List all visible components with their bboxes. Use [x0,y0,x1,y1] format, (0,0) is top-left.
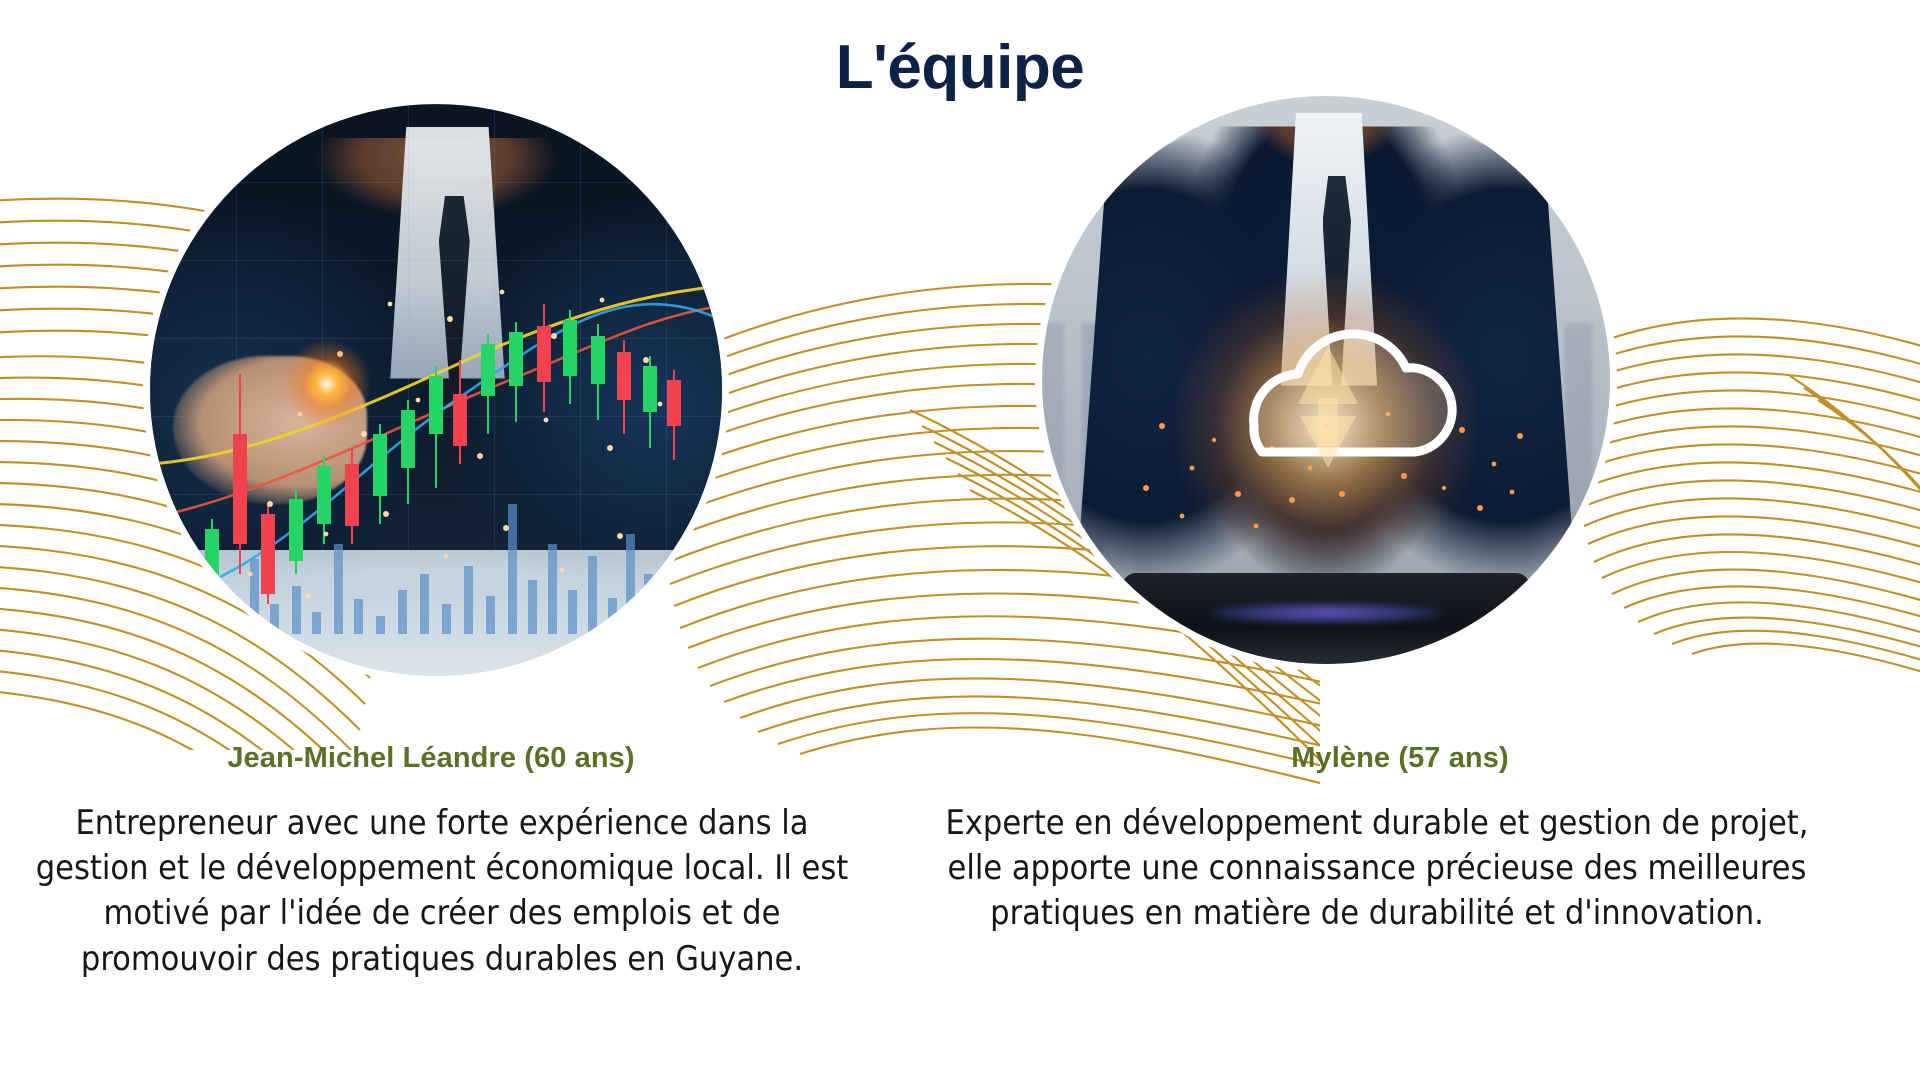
photo-businessman-stock-chart [150,104,722,676]
team-member-card: Mylène (57 ans) Experte en développement… [880,742,1920,937]
glow-flare-icon [282,339,372,429]
sparkle-dots-icon [150,104,722,676]
page-title: L'équipe [0,32,1920,103]
team-member-card: Jean-Michel Léandre (60 ans) Entrepreneu… [0,742,862,982]
member-description: Entrepreneur avec une forte expérience d… [14,801,870,982]
slide-root: L'équipe [0,0,1920,1080]
member-description: Experte en développement durable et gest… [924,801,1830,937]
gold-wave-right-icon [1560,280,1920,760]
photo-businessman-cloud-icon [1042,96,1610,664]
member-name: Jean-Michel Léandre (60 ans) [0,742,862,775]
member-name: Mylène (57 ans) [880,742,1920,775]
